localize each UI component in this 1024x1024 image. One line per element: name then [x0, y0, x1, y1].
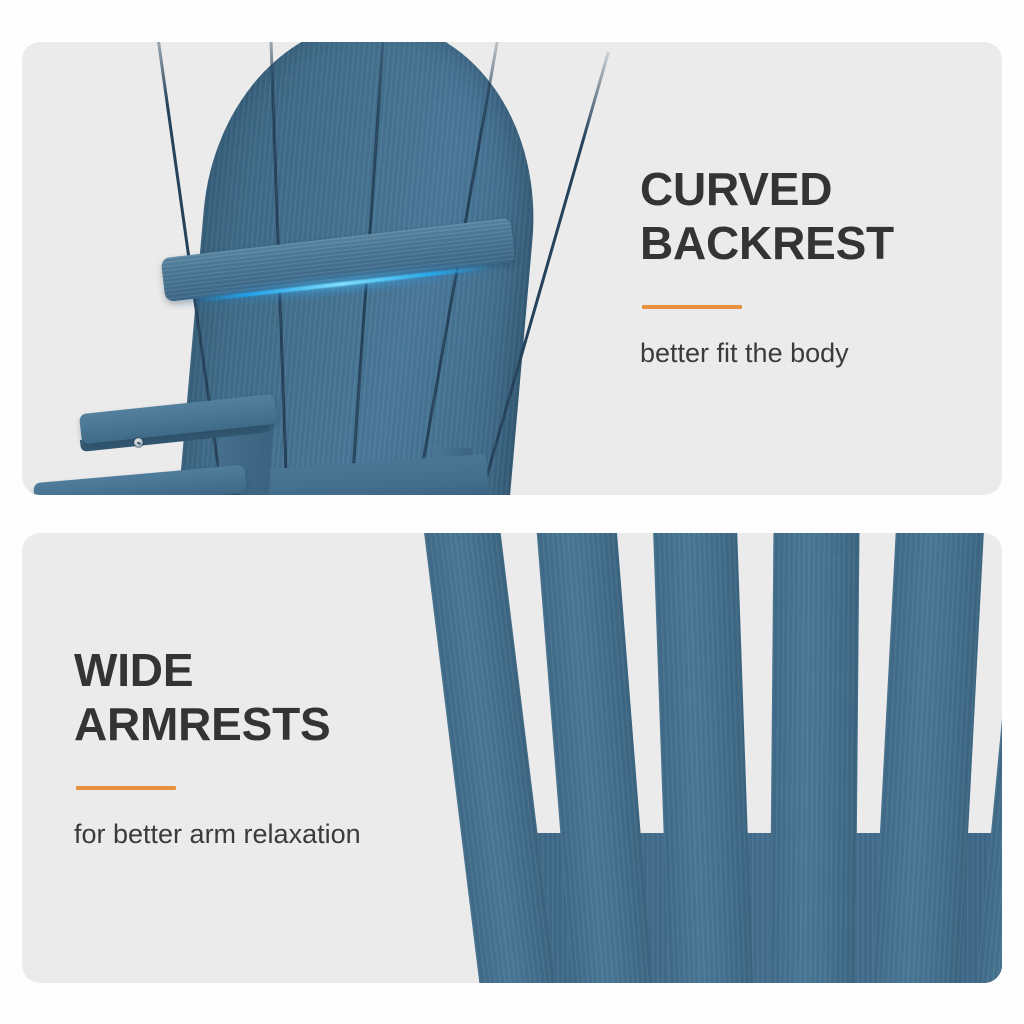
chair-backrest-slats	[477, 533, 1002, 983]
backrest-slat	[535, 533, 657, 983]
accent-divider	[642, 305, 742, 309]
panel-heading: CURVED BACKREST	[640, 162, 970, 271]
backrest-slat	[652, 533, 755, 983]
accent-divider	[76, 786, 176, 790]
feature-panel-wide-armrests: WIDE ARMRESTS for better arm relaxation	[22, 533, 1002, 983]
backrest-slat	[769, 533, 860, 983]
product-feature-board: CURVED BACKREST better fit the body	[0, 0, 1024, 1024]
chair-armrest-lower	[33, 465, 247, 495]
panel-heading: WIDE ARMRESTS	[74, 643, 454, 752]
feature-text-wide-armrests: WIDE ARMRESTS for better arm relaxation	[74, 643, 454, 851]
panel-subtitle: for better arm relaxation	[74, 818, 454, 852]
screw-head	[134, 438, 143, 447]
panel-subtitle: better fit the body	[640, 337, 970, 371]
backrest-slat	[869, 533, 985, 983]
feature-text-curved-backrest: CURVED BACKREST better fit the body	[640, 162, 970, 370]
feature-panel-curved-backrest: CURVED BACKREST better fit the body	[22, 42, 1002, 495]
